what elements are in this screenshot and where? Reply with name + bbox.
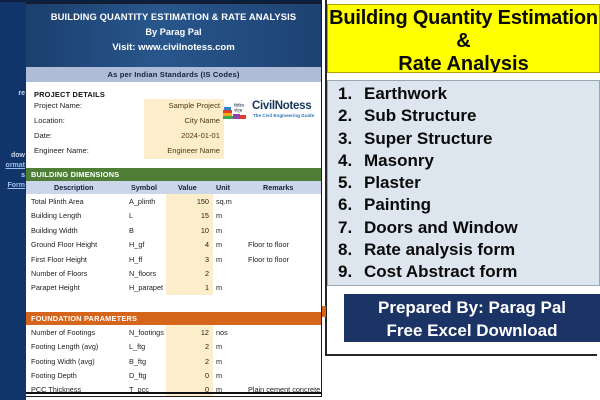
spreadsheet-panel: redowormatsForm BUILDING QUANTITY ESTIMA… bbox=[0, 0, 322, 400]
table-row: First Floor HeightH_ff3mFloor to floor bbox=[26, 252, 321, 266]
cell-description: Ground Floor Height bbox=[31, 240, 97, 249]
cell-value[interactable]: 2 bbox=[166, 357, 209, 366]
project-detail-label: Date: bbox=[34, 131, 52, 140]
sheet-header-block: BUILDING QUANTITY ESTIMATION & RATE ANAL… bbox=[26, 4, 321, 67]
civilnotess-logo: सिविल नोट्स CivilNotess The Civil Engine… bbox=[222, 98, 320, 124]
cell-value[interactable]: 0 bbox=[166, 371, 209, 380]
table-row: Number of FloorsN_floors2 bbox=[26, 266, 321, 280]
table-row: Building WidthB10m bbox=[26, 223, 321, 237]
cell-unit: m bbox=[216, 255, 222, 264]
list-item-label: Super Structure bbox=[364, 129, 492, 148]
sheet-title: BUILDING QUANTITY ESTIMATION & RATE ANAL… bbox=[26, 9, 321, 24]
logo-tagline: The Civil Engineering Guide bbox=[253, 113, 314, 118]
sheet-website-link[interactable]: Visit: www.civilnotess.com bbox=[26, 40, 321, 56]
app-sidebar-chrome[interactable]: redowormatsForm bbox=[0, 2, 26, 400]
project-detail-value[interactable]: City Name bbox=[144, 116, 224, 125]
poster-panel: Building Quantity Estimation & Rate Anal… bbox=[322, 0, 600, 400]
cell-value[interactable]: 3 bbox=[166, 255, 209, 264]
cell-value[interactable]: 4 bbox=[166, 240, 209, 249]
cell-description: Number of Footings bbox=[31, 328, 95, 337]
project-details-section: PROJECT DETAILS Project Name:Sample Proj… bbox=[26, 82, 321, 168]
cell-symbol: H_gf bbox=[129, 240, 144, 249]
col-remarks: Remarks bbox=[263, 183, 293, 192]
col-value: Value bbox=[178, 183, 197, 192]
poster-footer-line2: Free Excel Download bbox=[344, 319, 600, 342]
cell-symbol: H_parapet bbox=[129, 283, 163, 292]
cell-value[interactable]: 12 bbox=[166, 328, 209, 337]
list-item: 4.Masonry bbox=[338, 150, 599, 172]
list-item: 9.Cost Abstract form bbox=[338, 261, 599, 283]
list-item-label: Cost Abstract form bbox=[364, 262, 517, 281]
table-row: Footing Width (avg)B_ftg2m bbox=[26, 354, 321, 368]
cell-value[interactable]: 2 bbox=[166, 269, 209, 278]
list-item: 8.Rate analysis form bbox=[338, 239, 599, 261]
cell-description: First Floor Height bbox=[31, 255, 87, 264]
list-item-label: Masonry bbox=[364, 151, 434, 170]
list-item-number: 8. bbox=[338, 239, 364, 261]
section-spacer bbox=[26, 295, 321, 312]
cell-symbol: D_ftg bbox=[129, 371, 146, 380]
list-item-number: 5. bbox=[338, 172, 364, 194]
project-detail-label: Engineer Name: bbox=[34, 146, 89, 155]
list-item: 1.Earthwork bbox=[338, 83, 599, 105]
project-detail-value[interactable]: 2024-01-01 bbox=[144, 131, 224, 140]
cell-unit: m bbox=[216, 371, 222, 380]
cell-description: Number of Floors bbox=[31, 269, 87, 278]
col-unit: Unit bbox=[216, 183, 230, 192]
list-item-label: Rate analysis form bbox=[364, 240, 515, 259]
chrome-menu-fragment[interactable]: Form bbox=[0, 182, 26, 189]
chrome-menu-fragment[interactable]: ormat bbox=[0, 162, 26, 169]
poster-title-line1: Building Quantity Estimation bbox=[328, 7, 599, 30]
list-item-label: Painting bbox=[364, 195, 431, 214]
poster-title-line3: Rate Analysis bbox=[328, 53, 599, 73]
book-stack-icon: सिविल नोट्स bbox=[222, 101, 248, 121]
chrome-menu-fragment[interactable]: dow bbox=[0, 152, 26, 159]
list-item: 7.Doors and Window bbox=[338, 217, 599, 239]
cell-unit: m bbox=[216, 240, 222, 249]
list-item-label: Plaster bbox=[364, 173, 421, 192]
project-detail-row: Date:2024-01-01 bbox=[34, 129, 321, 144]
cell-symbol: H_ff bbox=[129, 255, 142, 264]
cell-description: Building Width bbox=[31, 226, 78, 235]
list-item-label: Earthwork bbox=[364, 84, 447, 103]
cell-remarks: Floor to floor bbox=[248, 255, 289, 264]
cell-value[interactable]: 15 bbox=[166, 211, 209, 220]
list-item-number: 6. bbox=[338, 194, 364, 216]
cell-remarks: Floor to floor bbox=[248, 240, 289, 249]
cell-unit: m bbox=[216, 342, 222, 351]
cell-description: Footing Depth bbox=[31, 371, 77, 380]
foundation-parameters-header: FOUNDATION PARAMETERS bbox=[26, 312, 321, 325]
list-item-number: 4. bbox=[338, 150, 364, 172]
cell-value[interactable]: 1 bbox=[166, 283, 209, 292]
cell-symbol: L_ftg bbox=[129, 342, 145, 351]
building-dimensions-rows: Total Plinth AreaA_plinth150sq.mBuilding… bbox=[26, 194, 321, 295]
cell-description: Parapet Height bbox=[31, 283, 80, 292]
list-item-label: Sub Structure bbox=[364, 106, 476, 125]
cell-unit: m bbox=[216, 357, 222, 366]
poster-topic-list: 1.Earthwork2.Sub Structure3.Super Struct… bbox=[327, 80, 600, 286]
project-detail-label: Location: bbox=[34, 116, 65, 125]
table-row: Number of FootingsN_footings12nos bbox=[26, 325, 321, 339]
project-detail-row: Engineer Name:Engineer Name bbox=[34, 144, 321, 159]
cell-symbol: N_footings bbox=[129, 328, 164, 337]
building-dimensions-column-headers: Description Symbol Value Unit Remarks bbox=[26, 181, 321, 194]
cell-unit: m bbox=[216, 211, 222, 220]
list-item: 3.Super Structure bbox=[338, 128, 599, 150]
cell-unit: m bbox=[216, 226, 222, 235]
table-row: Building LengthL15m bbox=[26, 208, 321, 222]
poster-title-line2: & bbox=[328, 30, 599, 53]
cell-unit: m bbox=[216, 283, 222, 292]
cell-value[interactable]: 150 bbox=[166, 197, 209, 206]
col-description: Description bbox=[54, 183, 94, 192]
table-row: Footing DepthD_ftg0m bbox=[26, 368, 321, 382]
cell-description: Footing Length (avg) bbox=[31, 342, 98, 351]
spreadsheet-sheet: BUILDING QUANTITY ESTIMATION & RATE ANAL… bbox=[26, 3, 322, 397]
svg-text:नोट्स: नोट्स bbox=[234, 108, 243, 114]
cell-value[interactable]: 10 bbox=[166, 226, 209, 235]
list-item: 2.Sub Structure bbox=[338, 105, 599, 127]
cell-symbol: L bbox=[129, 211, 133, 220]
list-item-label: Doors and Window bbox=[364, 218, 518, 237]
cell-description: Footing Width (avg) bbox=[31, 357, 95, 366]
table-row: PCC ThicknessT_pcc0mPlain cement concret… bbox=[26, 382, 321, 396]
orange-accent-tab bbox=[322, 306, 326, 317]
cell-symbol: B_ftg bbox=[129, 357, 146, 366]
table-row: Total Plinth AreaA_plinth150sq.m bbox=[26, 194, 321, 208]
cell-unit: sq.m bbox=[216, 197, 232, 206]
poster-title-banner: Building Quantity Estimation & Rate Anal… bbox=[327, 4, 600, 73]
list-item-number: 9. bbox=[338, 261, 364, 283]
foundation-parameters-rows: Number of FootingsN_footings12nosFooting… bbox=[26, 325, 321, 397]
cell-description: Total Plinth Area bbox=[31, 197, 84, 206]
list-item: 5.Plaster bbox=[338, 172, 599, 194]
table-row: Ground Floor HeightH_gf4mFloor to floor bbox=[26, 237, 321, 251]
cell-description: Building Length bbox=[31, 211, 81, 220]
table-row: Parapet HeightH_parapet1m bbox=[26, 280, 321, 294]
chrome-menu-fragment[interactable]: s bbox=[0, 172, 26, 179]
logo-wordmark: CivilNotess bbox=[252, 100, 311, 112]
table-row: Footing Length (avg)L_ftg2m bbox=[26, 339, 321, 353]
list-item-number: 1. bbox=[338, 83, 364, 105]
list-item: 6.Painting bbox=[338, 194, 599, 216]
cell-symbol: N_floors bbox=[129, 269, 156, 278]
chrome-menu-fragment[interactable]: re bbox=[0, 90, 26, 97]
list-item-number: 7. bbox=[338, 217, 364, 239]
project-detail-label: Project Name: bbox=[34, 101, 82, 110]
cell-symbol: A_plinth bbox=[129, 197, 155, 206]
sheet-bottom-rule bbox=[26, 392, 322, 394]
cell-value[interactable]: 2 bbox=[166, 342, 209, 351]
project-detail-value[interactable]: Engineer Name bbox=[144, 146, 224, 155]
project-detail-value[interactable]: Sample Project bbox=[144, 101, 224, 110]
col-symbol: Symbol bbox=[131, 183, 157, 192]
list-item-number: 2. bbox=[338, 105, 364, 127]
poster-footer-line1: Prepared By: Parag Pal bbox=[344, 296, 600, 319]
standards-note: As per Indian Standards (IS Codes) bbox=[26, 67, 321, 82]
cell-symbol: B bbox=[129, 226, 134, 235]
cell-unit: nos bbox=[216, 328, 228, 337]
sheet-author: By Parag Pal bbox=[26, 24, 321, 40]
list-item-number: 3. bbox=[338, 128, 364, 150]
poster-footer-banner: Prepared By: Parag Pal Free Excel Downlo… bbox=[344, 294, 600, 342]
building-dimensions-header: BUILDING DIMENSIONS bbox=[26, 168, 321, 181]
